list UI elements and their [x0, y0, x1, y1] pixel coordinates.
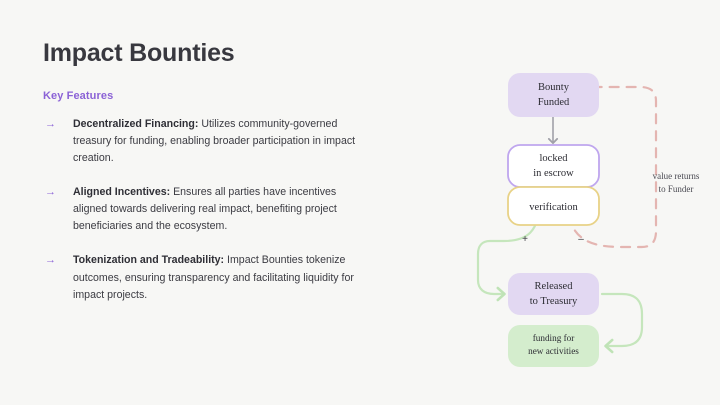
node-funding-line1: funding for — [533, 333, 575, 343]
node-locked-line1: locked — [540, 153, 569, 164]
node-verification: verification — [508, 187, 599, 225]
node-funding-new-activities: funding for new activities — [508, 325, 599, 367]
page-title: Impact Bounties — [43, 40, 363, 68]
node-funding-line2: new activities — [528, 346, 579, 356]
node-bounty-funded-line2: Funded — [538, 97, 570, 108]
feature-term: Decentralized Financing: — [73, 118, 198, 130]
arrow-right-icon: → — [45, 116, 56, 134]
node-locked-line2: in escrow — [533, 168, 574, 179]
feature-term: Tokenization and Tradeability: — [73, 254, 224, 266]
node-bounty-funded-line1: Bounty — [538, 82, 570, 93]
node-released-line1: Released — [535, 281, 574, 292]
list-item: → Tokenization and Tradeability: Impact … — [43, 252, 363, 303]
node-released-line2: to Treasury — [530, 296, 578, 307]
edge-label-value-returns-line2: to Funder — [659, 184, 694, 194]
arrow-right-icon: → — [45, 184, 56, 202]
feature-list: → Decentralized Financing: Utilizes comm… — [43, 116, 363, 304]
flow-diagram: Bounty Funded locked in escrow verificat… — [470, 55, 710, 385]
node-bounty-funded: Bounty Funded — [508, 73, 599, 117]
feature-term: Aligned Incentives: — [73, 186, 170, 198]
slide-root: Impact Bounties Key Features → Decentral… — [0, 0, 720, 405]
list-item: → Aligned Incentives: Ensures all partie… — [43, 184, 363, 235]
node-verification-label: verification — [529, 202, 578, 213]
edge-treasury-to-funding — [602, 294, 642, 346]
edge-label-negative: – — [578, 234, 584, 245]
arrow-right-icon: → — [45, 252, 56, 270]
edge-label-value-returns-line1: value returns — [653, 171, 700, 181]
edge-label-positive: + — [522, 234, 528, 245]
content-column: Impact Bounties Key Features → Decentral… — [43, 40, 363, 304]
node-locked-in-escrow: locked in escrow — [508, 145, 599, 187]
section-label-key-features: Key Features — [43, 90, 363, 102]
node-released-to-treasury: Released to Treasury — [508, 273, 599, 315]
list-item: → Decentralized Financing: Utilizes comm… — [43, 116, 363, 167]
